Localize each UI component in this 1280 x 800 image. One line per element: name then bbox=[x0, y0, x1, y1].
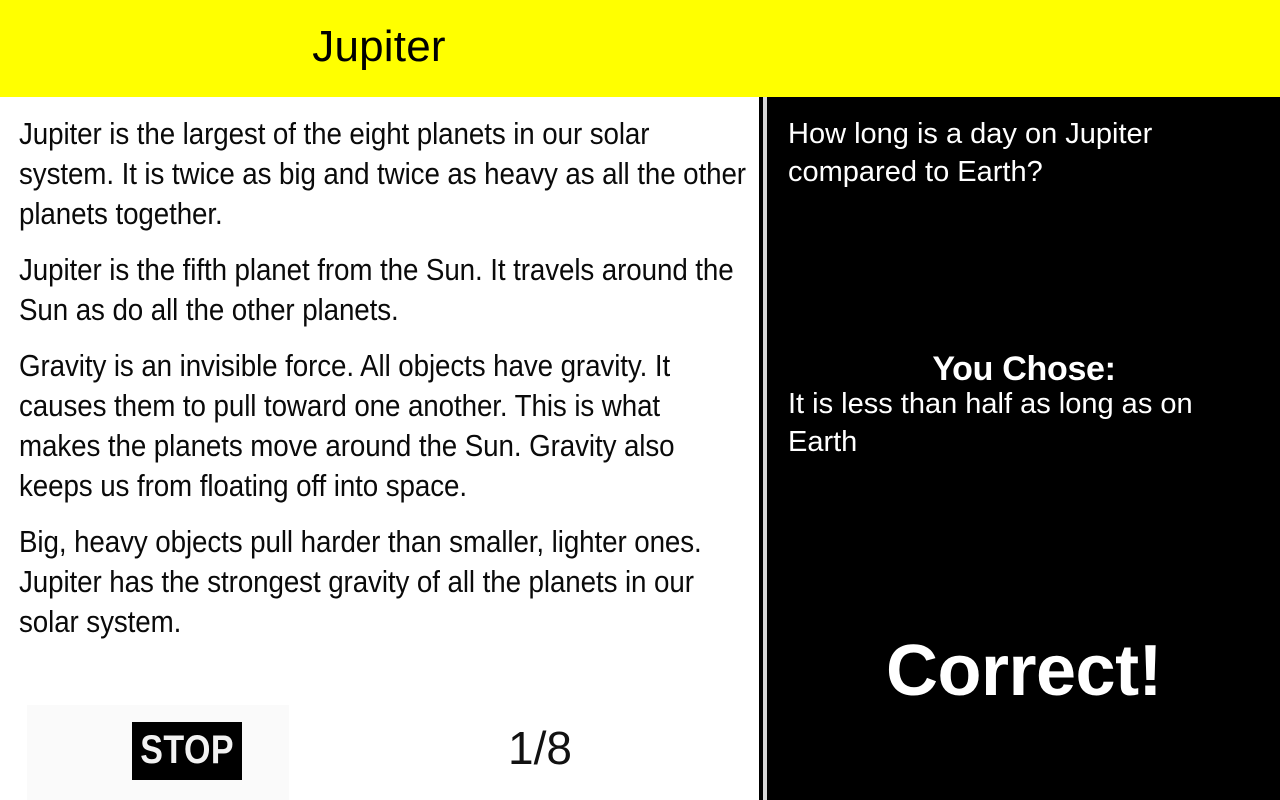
pane-divider bbox=[758, 97, 768, 800]
you-chose-label: You Chose: bbox=[768, 352, 1280, 386]
passage-paragraph: Big, heavy objects pull harder than smal… bbox=[19, 522, 749, 642]
chosen-answer-text: It is less than half as long as on Earth bbox=[788, 385, 1266, 461]
header-bar: Jupiter bbox=[0, 0, 1280, 97]
passage-paragraph: Jupiter is the largest of the eight plan… bbox=[19, 114, 749, 234]
page-title: Jupiter bbox=[0, 0, 758, 97]
stop-button-label: STOP bbox=[140, 730, 234, 773]
page-counter: 1/8 bbox=[430, 723, 650, 774]
stop-button[interactable]: STOP bbox=[132, 722, 242, 780]
quiz-question: How long is a day on Jupiter compared to… bbox=[788, 115, 1266, 191]
passage-paragraph: Gravity is an invisible force. All objec… bbox=[19, 346, 749, 506]
quiz-pane: How long is a day on Jupiter compared to… bbox=[768, 97, 1280, 800]
result-banner: Correct! bbox=[768, 635, 1280, 707]
passage-paragraph: Jupiter is the fifth planet from the Sun… bbox=[19, 250, 749, 330]
app-screen: Jupiter Jupiter is the largest of the ei… bbox=[0, 0, 1280, 800]
reading-passage: Jupiter is the largest of the eight plan… bbox=[19, 114, 749, 658]
reading-pane: Jupiter is the largest of the eight plan… bbox=[0, 97, 758, 800]
